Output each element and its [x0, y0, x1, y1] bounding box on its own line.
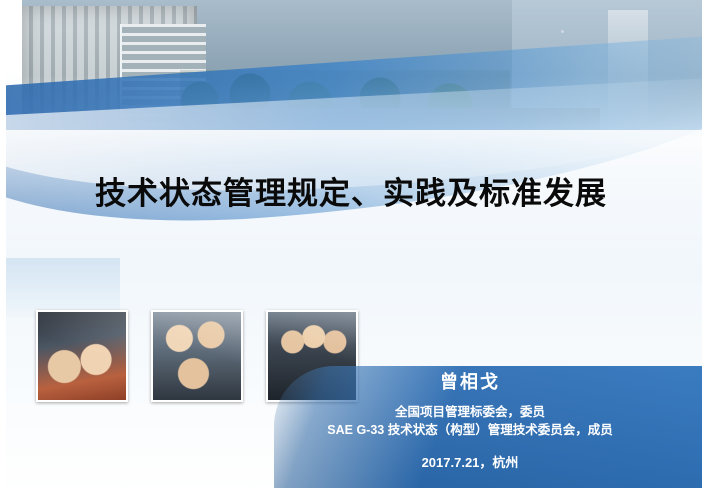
presentation-slide: 技术状态管理规定、实践及标准发展 曾相戈 全国项目管理标委会，委员 SAE G-… [0, 0, 702, 496]
author-affiliation-1: 全国项目管理标委会，委员 [260, 401, 680, 420]
thumbnail-image-2 [151, 310, 243, 402]
author-name: 曾相戈 [260, 368, 680, 394]
slide-title: 技术状态管理规定、实践及标准发展 [0, 168, 702, 213]
slide-bottom-edge [0, 488, 702, 496]
presentation-date-location: 2017.7.21，杭州 [260, 452, 680, 471]
thumbnail-image-1 [36, 310, 128, 402]
slide-left-edge [0, 0, 6, 496]
thumbnail-shine-1 [38, 312, 126, 400]
author-affiliation-2: SAE G-33 技术状态（构型）管理技术委员会，成员 [260, 419, 680, 438]
thumbnail-shine-2 [153, 312, 241, 400]
left-decor-panel [0, 258, 120, 318]
